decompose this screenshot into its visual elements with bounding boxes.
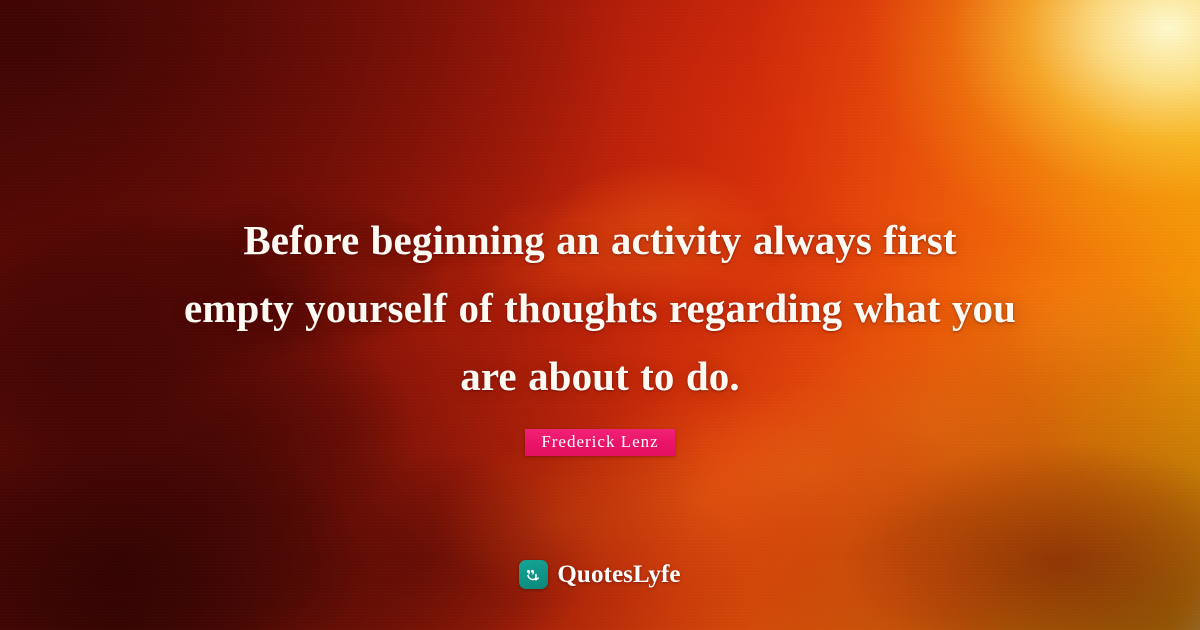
quote-block: Before beginning an activity always firs… [60, 206, 1140, 410]
author-badge[interactable]: Frederick Lenz [525, 429, 674, 456]
quote-image-card: Before beginning an activity always firs… [0, 0, 1200, 630]
quote-line-3: are about to do. [60, 342, 1140, 410]
quote-line-2: empty yourself of thoughts regarding wha… [60, 274, 1140, 342]
quote-bubble-icon [519, 560, 548, 589]
brand-watermark[interactable]: QuotesLyfe [0, 560, 1200, 589]
author-wrap: Frederick Lenz [0, 429, 1200, 456]
brand-name: QuotesLyfe [557, 560, 680, 589]
card-content: Before beginning an activity always firs… [0, 0, 1200, 630]
quote-line-1: Before beginning an activity always firs… [60, 206, 1140, 274]
